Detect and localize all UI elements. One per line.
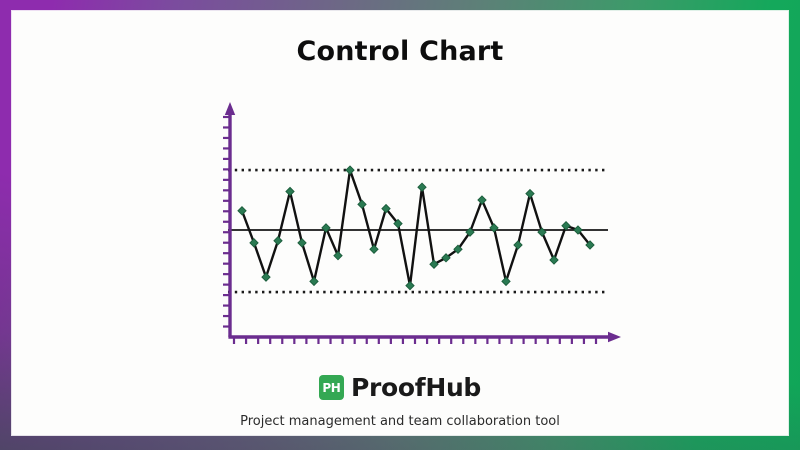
control-chart-svg xyxy=(202,99,622,354)
data-point-marker xyxy=(514,241,522,249)
data-point-marker xyxy=(274,237,282,245)
data-point-marker xyxy=(358,200,366,208)
slide-frame: Control Chart PH ProofHub Project manage… xyxy=(0,0,800,450)
data-point-marker xyxy=(526,190,534,198)
data-point-marker xyxy=(262,273,270,281)
series-line xyxy=(242,170,590,286)
data-point-marker xyxy=(250,239,258,247)
control-chart xyxy=(202,99,622,354)
data-point-marker xyxy=(406,282,414,290)
brand-name: ProofHub xyxy=(351,373,481,402)
page-title: Control Chart xyxy=(12,36,788,67)
data-point-marker xyxy=(334,252,342,260)
proofhub-logo-icon: PH xyxy=(319,375,344,400)
x-axis-arrowhead xyxy=(608,332,621,342)
content-card: Control Chart PH ProofHub Project manage… xyxy=(12,11,788,435)
data-point-marker xyxy=(238,207,246,215)
data-point-marker xyxy=(502,277,510,285)
data-point-marker xyxy=(310,277,318,285)
brand-tagline: Project management and team collaboratio… xyxy=(12,414,788,429)
data-point-marker xyxy=(478,196,486,204)
data-point-marker xyxy=(346,166,354,174)
data-point-marker xyxy=(370,245,378,253)
y-axis-arrowhead xyxy=(225,102,235,115)
data-point-marker xyxy=(286,187,294,195)
data-point-marker xyxy=(418,183,426,191)
data-point-marker xyxy=(562,222,570,230)
data-point-marker xyxy=(298,239,306,247)
brand-lockup: PH ProofHub xyxy=(12,373,788,402)
data-point-marker xyxy=(550,256,558,264)
